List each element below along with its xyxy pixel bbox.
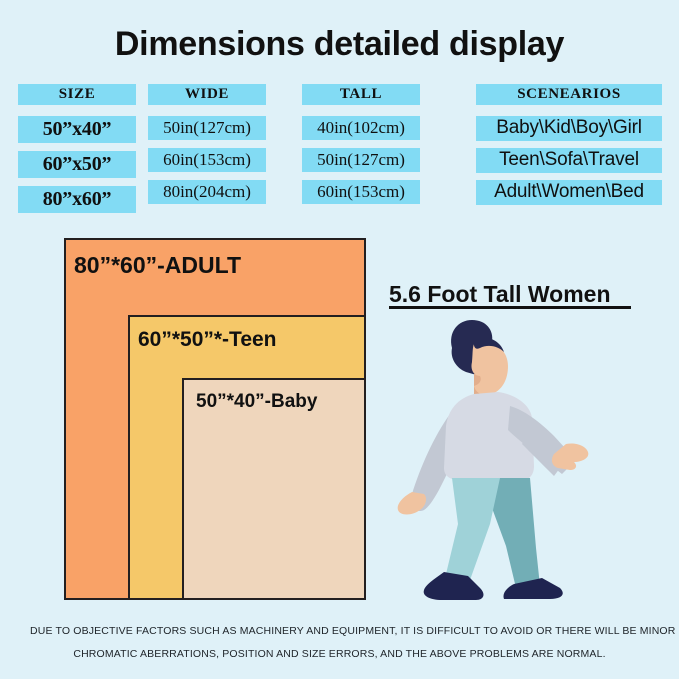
- size-rect-label-adult: 80”*60”-ADULT: [74, 252, 241, 279]
- walking-woman-illustration: [390, 318, 590, 608]
- back-hand-shape: [398, 492, 426, 515]
- front-leg-shape: [446, 478, 500, 580]
- size-rect-label-teen: 60”*50”*-Teen: [138, 328, 277, 352]
- infographic-page: Dimensions detailed display SIZE 50”x40”…: [0, 0, 679, 679]
- back-shoe-shape: [503, 578, 562, 599]
- back-leg-shape: [490, 478, 540, 588]
- front-shoe-shape: [424, 572, 484, 600]
- disclaimer-text: DUE TO OBJECTIVE FACTORS SUCH AS MACHINE…: [30, 620, 649, 666]
- scale-reference-underline: [389, 306, 631, 309]
- scale-reference-heading: 5.6 Foot Tall Women: [389, 281, 611, 308]
- disclaimer-line-1: DUE TO OBJECTIVE FACTORS SUCH AS MACHINE…: [30, 620, 649, 643]
- size-rect-label-baby: 50”*40”-Baby: [196, 391, 317, 413]
- disclaimer-line-2: CHROMATIC ABERRATIONS, POSITION AND SIZE…: [30, 643, 649, 666]
